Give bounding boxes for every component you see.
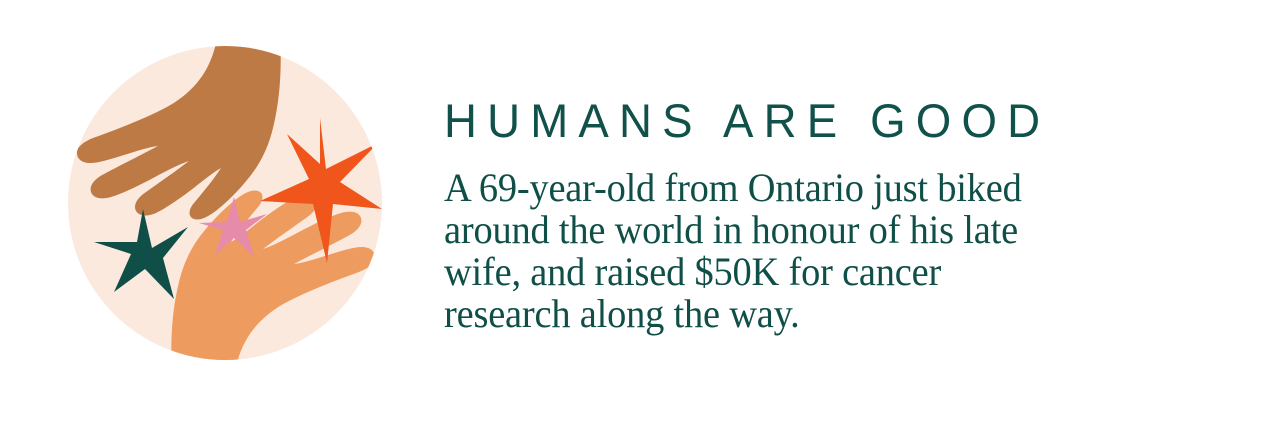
body-copy-line: wife, and raised $50K for cancer xyxy=(444,251,1174,293)
body-copy-line: A 69-year-old from Ontario just biked xyxy=(444,167,1174,209)
illustration-two-hands-with-stars xyxy=(68,46,382,360)
humans-are-good-card: HUMANS ARE GOOD A 69-year-old from Ontar… xyxy=(0,0,1280,426)
body-copy-line: around the world in honour of his late xyxy=(444,209,1174,251)
body-copy-line: research along the way. xyxy=(444,293,1174,335)
text-block: HUMANS ARE GOOD A 69-year-old from Ontar… xyxy=(444,92,1204,335)
page-title: HUMANS ARE GOOD xyxy=(444,92,1181,150)
body-copy: A 69-year-old from Ontario just biked ar… xyxy=(444,150,1174,335)
